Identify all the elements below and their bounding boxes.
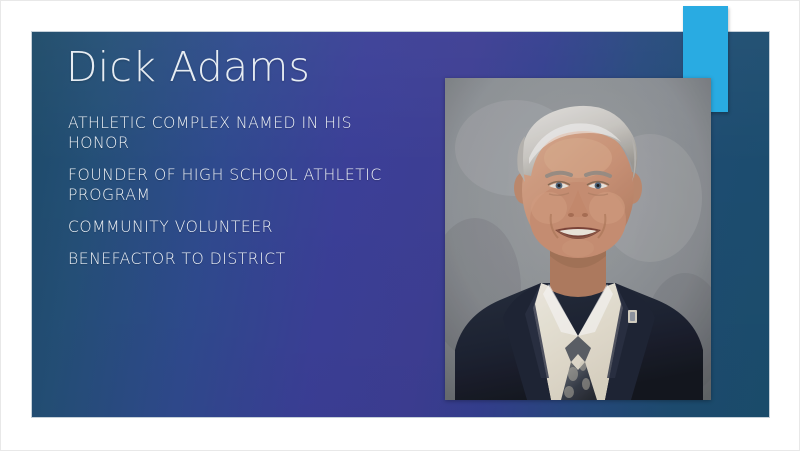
bullet-item: Founder of high school athletic program xyxy=(68,166,398,206)
bullet-list: Athletic complex named in his honor Foun… xyxy=(68,114,398,270)
portrait-photo xyxy=(445,78,711,400)
bullet-item: Athletic complex named in his honor xyxy=(68,114,398,154)
bullet-item: Community volunteer xyxy=(68,218,398,238)
slide-title: Dick Adams xyxy=(66,44,310,91)
slide: Dick Adams Athletic complex named in his… xyxy=(32,32,769,417)
bullet-item: Benefactor to district xyxy=(68,250,398,270)
slide-canvas: Dick Adams Athletic complex named in his… xyxy=(0,0,800,451)
portrait-photo-image xyxy=(445,78,711,400)
